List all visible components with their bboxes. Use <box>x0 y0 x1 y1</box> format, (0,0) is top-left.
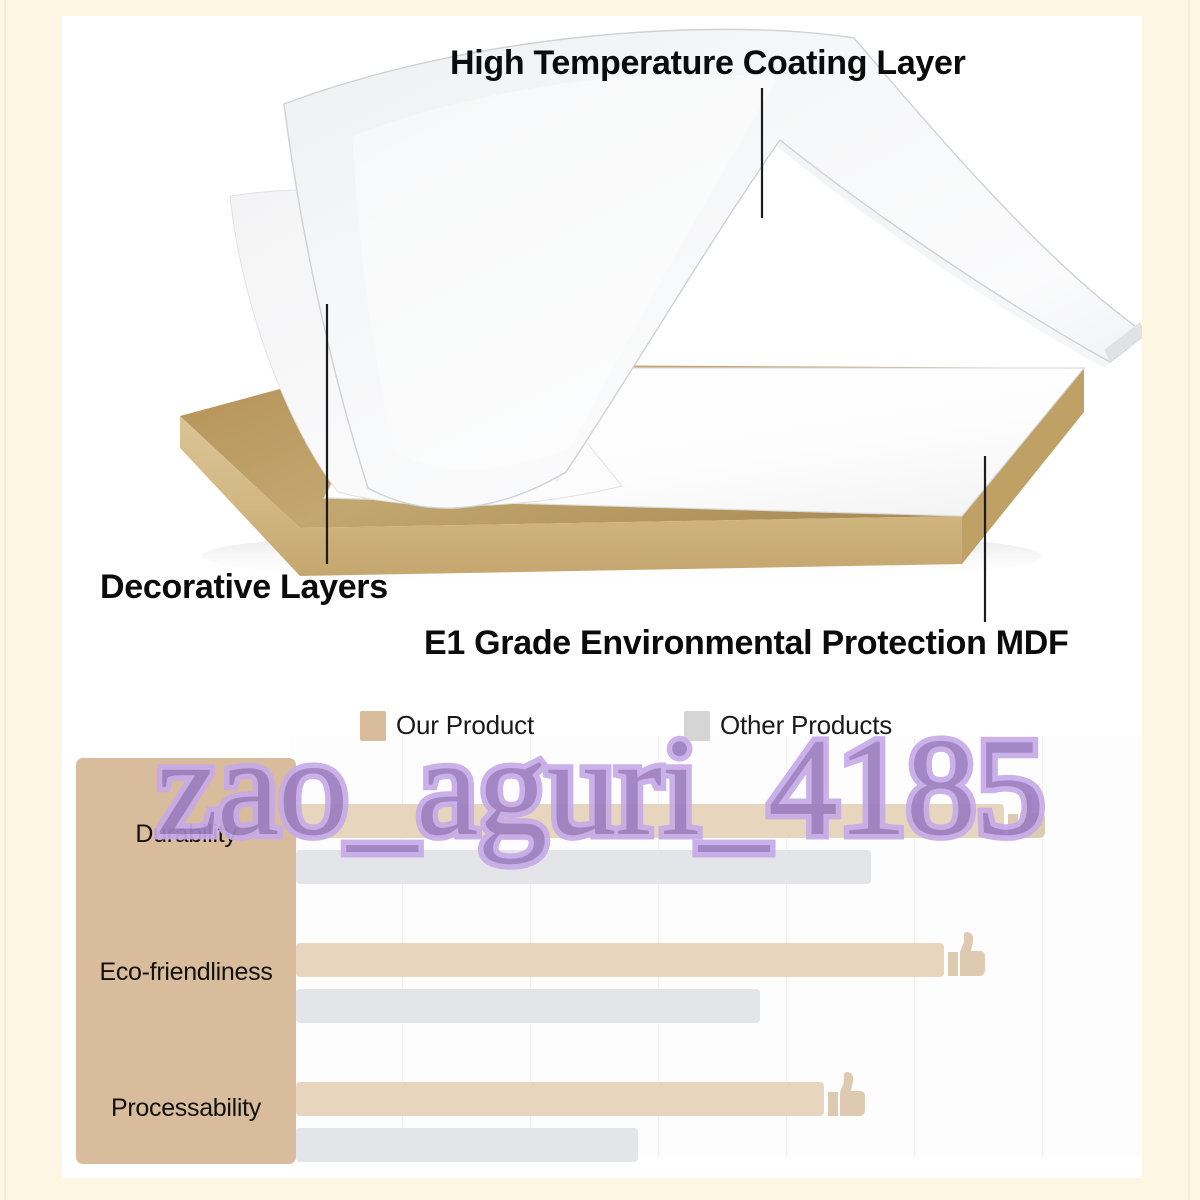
category-label-durability: Durability <box>76 820 296 849</box>
frame-hairline-right <box>1188 0 1190 1200</box>
product-infographic-page: High Temperature Coating Layer Decorativ… <box>0 0 1200 1200</box>
bar-our-product-eco-friendliness <box>296 943 944 977</box>
thumbs-up-icon <box>946 930 990 980</box>
content-canvas: High Temperature Coating Layer Decorativ… <box>62 16 1142 1178</box>
bar-other-products-processability <box>296 1128 638 1162</box>
label-e1-grade-mdf: E1 Grade Environmental Protection MDF <box>424 624 1068 663</box>
legend-swatch-our-product <box>360 711 386 741</box>
frame-hairline-left <box>4 0 6 1200</box>
legend-item-our-product: Our Product <box>360 710 534 741</box>
category-label-panel: Durability Eco-friendliness Processabili… <box>76 758 296 1164</box>
thumbs-up-icon <box>1006 792 1050 842</box>
thumbs-up-icon <box>826 1070 870 1120</box>
legend-label-other-products: Other Products <box>720 710 892 741</box>
legend-label-our-product: Our Product <box>396 710 534 741</box>
chart-legend: Our Product Other Products <box>62 710 1142 750</box>
category-label-eco-friendliness: Eco-friendliness <box>76 958 296 987</box>
frame-border-left <box>0 0 62 1200</box>
legend-swatch-other-products <box>684 711 710 741</box>
bar-other-products-durability <box>296 850 871 884</box>
layer-structure-diagram: High Temperature Coating Layer Decorativ… <box>62 16 1142 666</box>
bar-other-products-eco-friendliness <box>296 989 760 1023</box>
category-label-processability: Processability <box>76 1094 296 1123</box>
bar-our-product-durability <box>296 804 1004 838</box>
frame-border-bottom <box>0 1178 1200 1200</box>
frame-border-top <box>0 0 1200 16</box>
label-decorative-layers: Decorative Layers <box>100 568 388 607</box>
frame-border-right <box>1142 0 1200 1200</box>
label-high-temperature-coating-layer: High Temperature Coating Layer <box>450 44 966 83</box>
bar-our-product-processability <box>296 1082 824 1116</box>
legend-item-other-products: Other Products <box>684 710 892 741</box>
comparison-bar-chart: Our Product Other Products Durability Ec… <box>62 666 1142 1178</box>
